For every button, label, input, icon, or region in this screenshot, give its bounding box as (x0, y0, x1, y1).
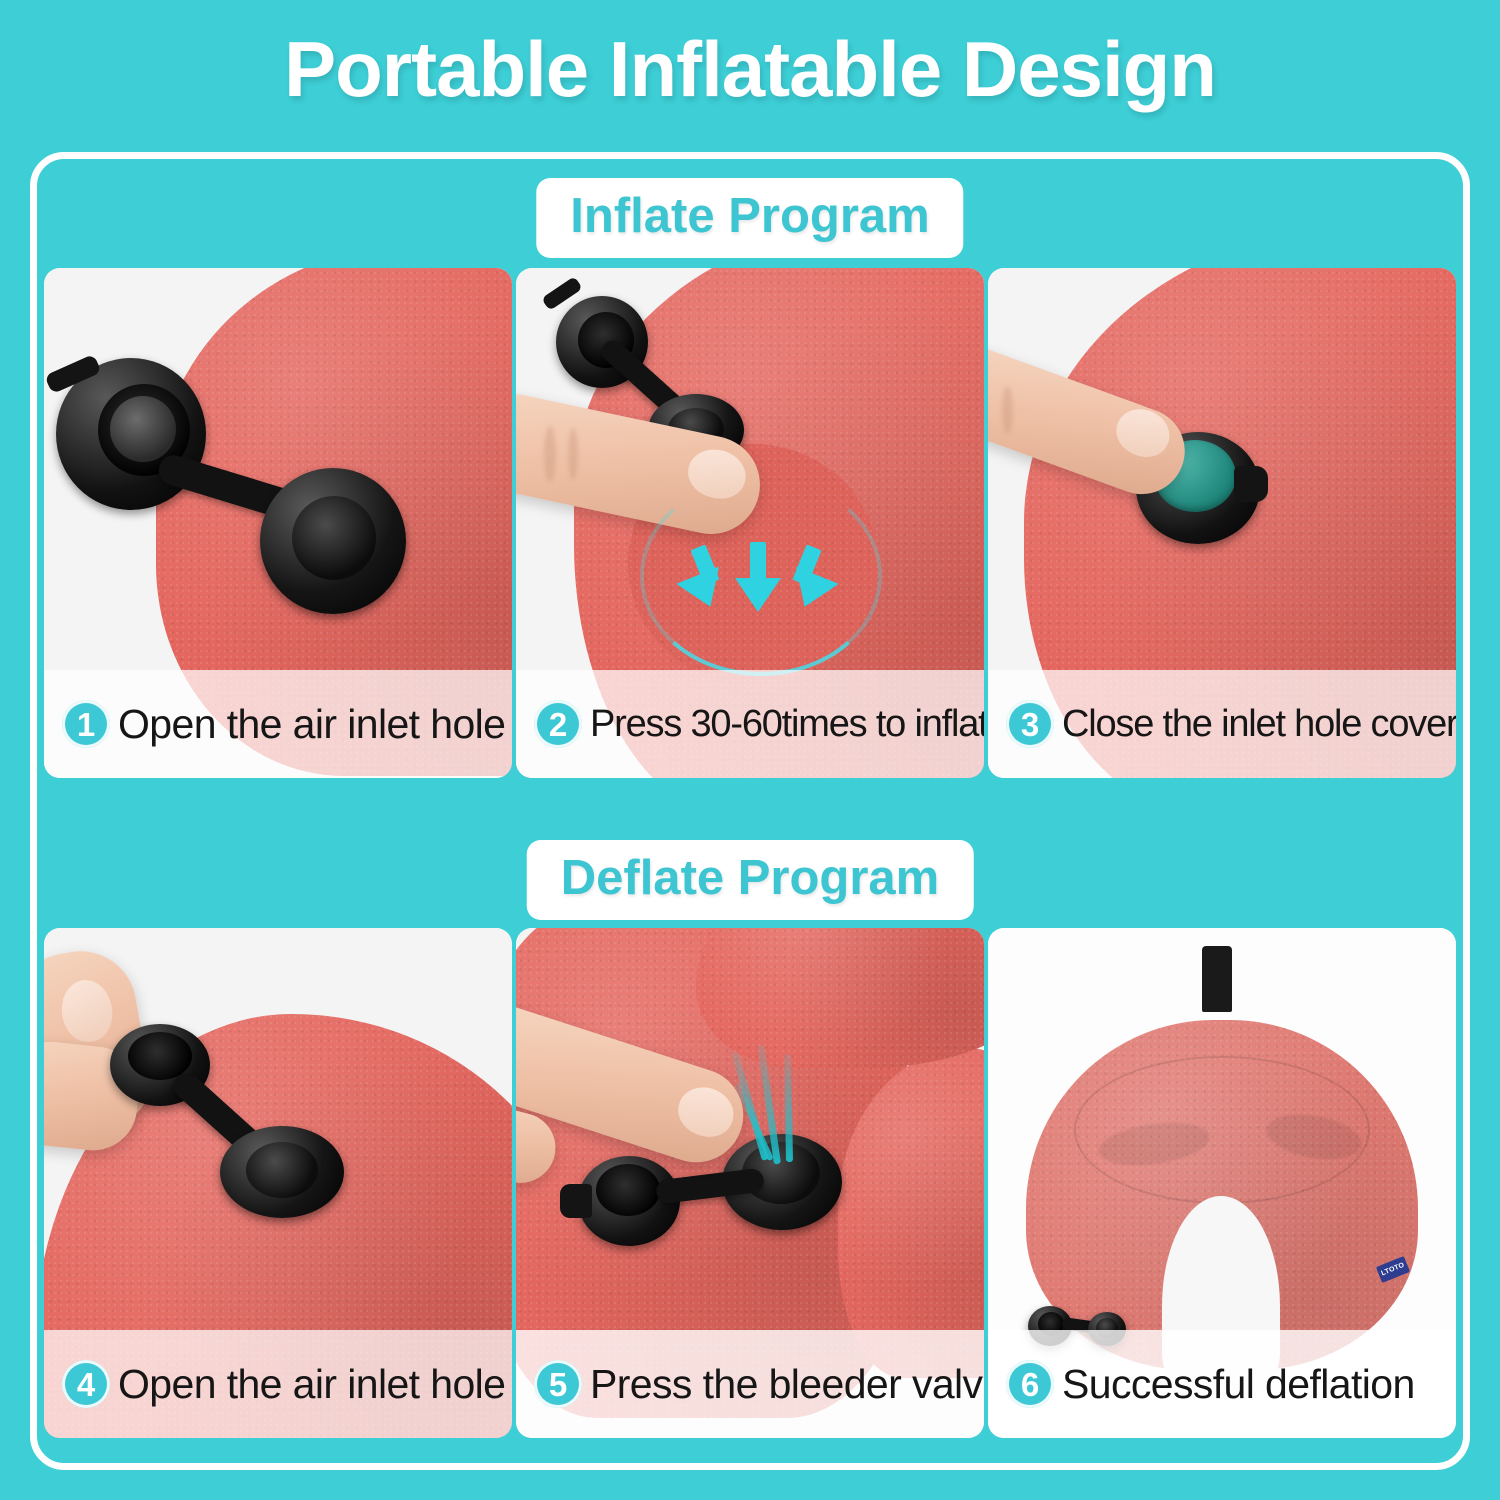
valve-side-tab (1234, 466, 1268, 502)
step-number-4: 4 (62, 1360, 110, 1408)
step-panel-1: 1 Open the air inlet hole (44, 268, 512, 778)
air-inlet-valve-core (246, 1142, 318, 1198)
step-number-6: 6 (1006, 1360, 1054, 1408)
step-text-4: Open the air inlet hole (118, 1361, 505, 1408)
step-text-2: Press 30-60times to inflate (590, 703, 984, 746)
knuckle-crease (1002, 386, 1013, 434)
step-photo-2: 2 Press 30-60times to inflate (516, 268, 984, 778)
step-caption-2: 2 Press 30-60times to inflate (516, 670, 984, 778)
step-panel-4: 4 Open the air inlet hole (44, 928, 512, 1438)
deflated-u-pillow: LTOTO (1026, 1020, 1418, 1370)
section-badge-deflate: Deflate Program (527, 840, 974, 920)
step-panel-2: 2 Press 30-60times to inflate (516, 268, 984, 778)
step-caption-4: 4 Open the air inlet hole (44, 1330, 512, 1438)
step-text-3: Close the inlet hole cover (1062, 703, 1456, 746)
step-caption-1: 1 Open the air inlet hole (44, 670, 512, 778)
valve-cap-plug (110, 396, 176, 462)
air-inlet-valve-core (292, 496, 376, 580)
step-caption-5: 5 Press the bleeder valve (516, 1330, 984, 1438)
step-number-2: 2 (534, 700, 582, 748)
step-panel-6: LTOTO 6 Successful deflation (988, 928, 1456, 1438)
press-indicator-arc (640, 476, 882, 676)
step-photo-5: 5 Press the bleeder valve (516, 928, 984, 1438)
brand-tag-text: LTOTO (1380, 1262, 1405, 1278)
step-photo-4: 4 Open the air inlet hole (44, 928, 512, 1438)
valve-pull-tab (560, 1184, 592, 1218)
step-panel-5: 5 Press the bleeder valve (516, 928, 984, 1438)
step-number-5: 5 (534, 1360, 582, 1408)
step-panel-3: 3 Close the inlet hole cover (988, 268, 1456, 778)
step-number-1: 1 (62, 700, 110, 748)
step-photo-1: 1 Open the air inlet hole (44, 268, 512, 778)
step-number-3: 3 (1006, 700, 1054, 748)
step-photo-6: LTOTO 6 Successful deflation (988, 928, 1456, 1438)
pillow-top-band (696, 928, 984, 1068)
step-caption-6: 6 Successful deflation (988, 1330, 1456, 1438)
knuckle-crease (568, 428, 578, 480)
step-text-6: Successful deflation (1062, 1361, 1415, 1408)
section-badge-inflate: Inflate Program (536, 178, 963, 258)
step-photo-3: 3 Close the inlet hole cover (988, 268, 1456, 778)
step-caption-3: 3 Close the inlet hole cover (988, 670, 1456, 778)
valve-cap-cavity (596, 1164, 660, 1216)
step-text-5: Press the bleeder valve (590, 1361, 984, 1408)
knuckle-crease (544, 426, 556, 482)
page-title: Portable Inflatable Design (0, 30, 1500, 108)
step-text-1: Open the air inlet hole (118, 701, 505, 748)
hanging-strap (1202, 946, 1232, 1012)
